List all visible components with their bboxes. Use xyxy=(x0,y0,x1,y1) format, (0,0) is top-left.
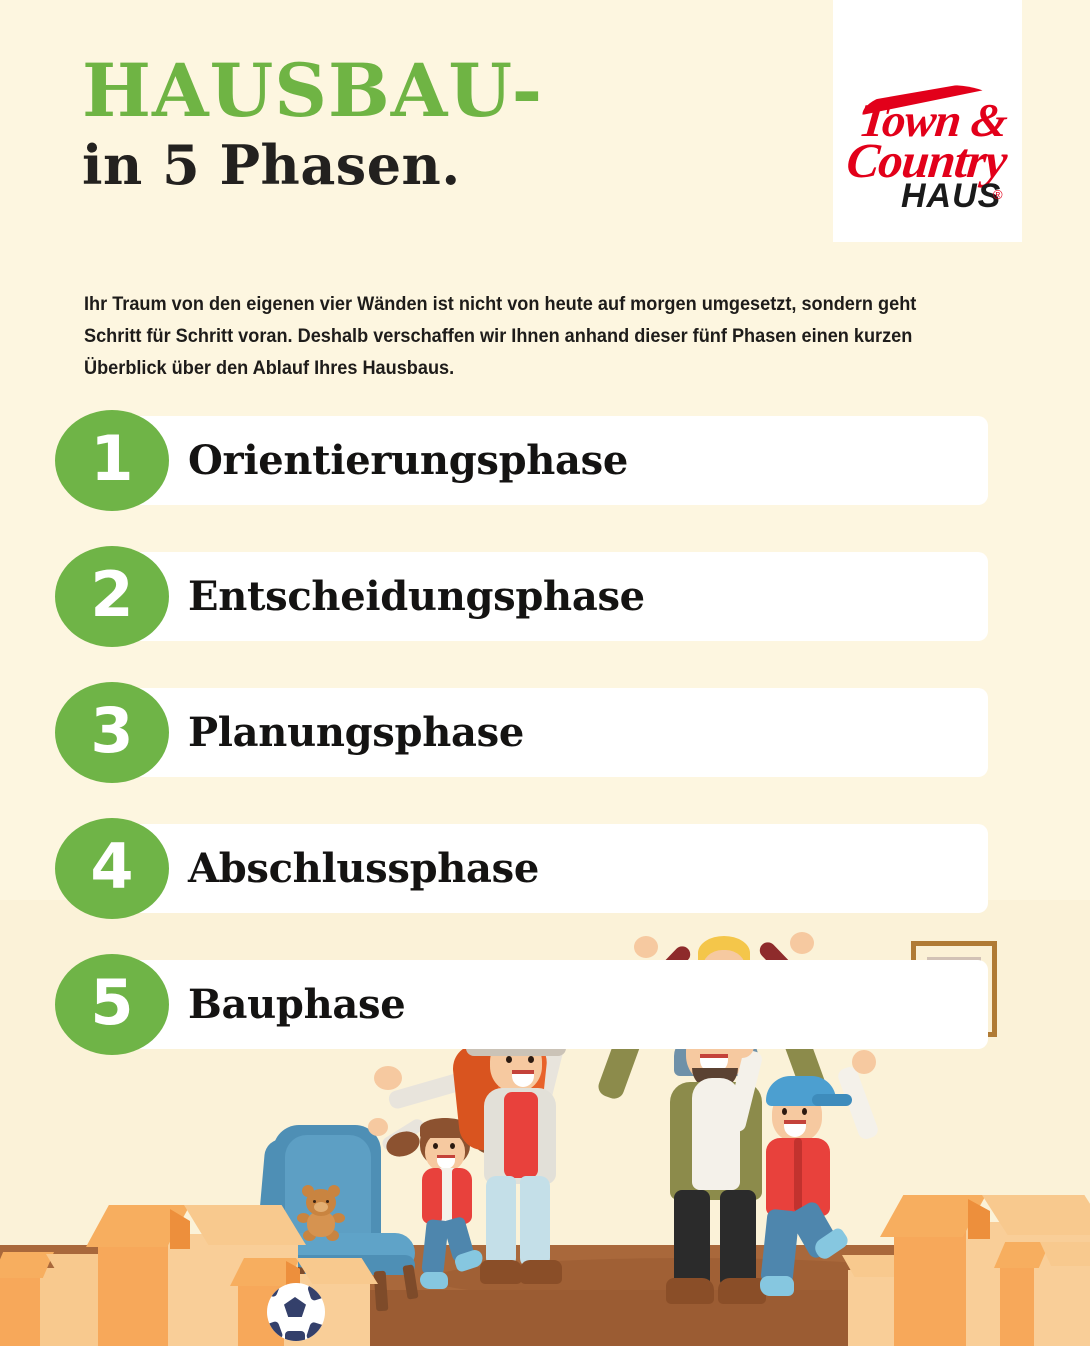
title-line-2: in 5 Phasen. xyxy=(82,134,543,196)
brand-logo[interactable]: Town & Country HAUS ® xyxy=(833,0,1022,242)
teddy-eye xyxy=(326,1200,329,1203)
mother-boot xyxy=(480,1260,522,1284)
phase-row[interactable]: Abschlussphase 4 xyxy=(0,824,1090,960)
logo-haus-text: HAUS xyxy=(901,177,1001,216)
infographic-page: Town & Country HAUS ® HAUSBAU- in 5 Phas… xyxy=(0,0,1090,1346)
phase-label: Bauphase xyxy=(188,960,405,1049)
logo-artwork: Town & Country HAUS ® xyxy=(845,84,1011,212)
phase-number-badge: 3 xyxy=(55,682,169,783)
phase-number: 2 xyxy=(90,564,133,626)
mother-leg xyxy=(520,1176,550,1268)
title-line-1: HAUSBAU- xyxy=(82,52,543,130)
intro-paragraph: Ihr Traum von den eigenen vier Wänden is… xyxy=(84,288,921,384)
phase-number: 1 xyxy=(90,428,133,490)
registered-trademark-icon: ® xyxy=(993,187,1003,202)
mother-shirt xyxy=(504,1092,538,1178)
boy-eye xyxy=(782,1108,787,1115)
phase-label: Orientierungsphase xyxy=(188,416,628,505)
girl-eye xyxy=(433,1143,438,1149)
mother-leg xyxy=(486,1176,516,1268)
teddy-bear xyxy=(295,1185,347,1243)
phase-number: 5 xyxy=(90,972,133,1034)
phase-row[interactable]: Bauphase 5 xyxy=(0,960,1090,1096)
boy-shoe xyxy=(760,1276,794,1296)
phase-number-badge: 4 xyxy=(55,818,169,919)
girl-hand xyxy=(368,1118,388,1136)
girl-vest xyxy=(422,1168,442,1224)
phase-label: Abschlussphase xyxy=(188,824,539,913)
father-boot xyxy=(666,1278,714,1304)
phase-label: Planungsphase xyxy=(188,688,524,777)
soccer-ball xyxy=(267,1283,325,1341)
phase-list: Orientierungsphase 1 Entscheidungsphase … xyxy=(0,416,1090,1096)
phase-row[interactable]: Planungsphase 3 xyxy=(0,688,1090,824)
phase-number: 4 xyxy=(90,836,133,898)
mother-boot xyxy=(520,1260,562,1284)
armchair-leg xyxy=(374,1271,389,1312)
phase-number-badge: 2 xyxy=(55,546,169,647)
phase-row[interactable]: Orientierungsphase 1 xyxy=(0,416,1090,552)
phase-row[interactable]: Entscheidungsphase 2 xyxy=(0,552,1090,688)
phase-number-badge: 5 xyxy=(55,954,169,1055)
teddy-muzzle xyxy=(314,1202,328,1212)
teddy-eye xyxy=(313,1200,316,1203)
father-leg xyxy=(674,1190,710,1288)
boy-eye xyxy=(802,1108,807,1115)
phase-number-badge: 1 xyxy=(55,410,169,511)
phase-label: Entscheidungsphase xyxy=(188,552,645,641)
page-title: HAUSBAU- in 5 Phasen. xyxy=(82,52,543,196)
phase-number: 3 xyxy=(90,700,133,762)
boy-zipper xyxy=(794,1138,802,1212)
moving-box xyxy=(1000,1242,1090,1346)
